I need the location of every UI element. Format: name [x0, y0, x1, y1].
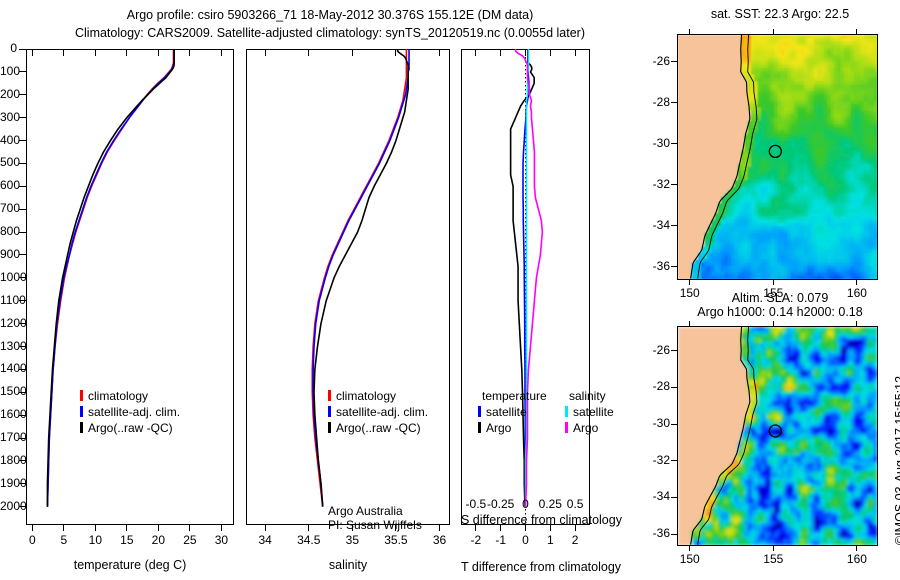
depth-tick-mark — [19, 209, 26, 210]
diff-s-tick-mark — [475, 50, 476, 56]
temp-xtick-5: 5 — [48, 533, 80, 547]
temp-xtick-0: 0 — [16, 533, 48, 547]
temp-xtick-mark — [221, 525, 222, 531]
temp-xtick-mark-top — [32, 50, 33, 56]
attribution-line1: Argo Australia — [328, 504, 403, 518]
temp-xtick-15: 15 — [111, 533, 143, 547]
sal-xtick-mark — [265, 525, 266, 531]
temperature-profile-plot — [26, 49, 234, 525]
depth-tick-1300: 1300 — [0, 339, 17, 353]
depth-tick-mark — [19, 186, 26, 187]
sal-xtick-35.5: 35.5 — [376, 533, 416, 547]
depth-tick-1600: 1600 — [0, 407, 17, 421]
diff-s-tick-mark — [550, 50, 551, 56]
depth-tick-1800: 1800 — [0, 453, 17, 467]
sst-lon-tick-155: 155 — [755, 286, 791, 300]
sla-lon-tick-mark — [856, 545, 857, 551]
depth-tick-100: 100 — [0, 64, 17, 78]
diff-legend-header-temperature: temperature — [482, 389, 547, 403]
sla-lon-tick-mark-top — [689, 321, 690, 327]
sla-lat-tick-mark — [671, 497, 678, 498]
attribution-line2: PI: Susan Wijffels — [328, 518, 422, 532]
diff-legend-label-s-1: Argo — [573, 421, 598, 435]
depth-tick-1200: 1200 — [0, 316, 17, 330]
legend-swatch-0 — [80, 390, 83, 401]
depth-tick-1000: 1000 — [0, 270, 17, 284]
temperature-xaxis-label: temperature (deg C) — [26, 558, 234, 572]
sal-xtick-mark-top — [308, 50, 309, 56]
legend-swatch-1 — [80, 406, 83, 417]
diff-t-tick-mark — [475, 525, 476, 531]
legend-label-2: Argo(..raw -QC) — [88, 421, 173, 435]
sla-lat-tick-mark — [671, 534, 678, 535]
depth-tick-mark — [19, 254, 26, 255]
diff-t-tick-mark — [500, 525, 501, 531]
sst-lat-tick--26: -26 — [636, 54, 670, 68]
depth-tick-1700: 1700 — [0, 430, 17, 444]
depth-tick-mark — [19, 49, 26, 50]
temp-xtick-mark-top — [126, 50, 127, 56]
sla-lon-tick-150: 150 — [672, 552, 708, 566]
sla-lat-tick-mark — [671, 460, 678, 461]
sla-lon-tick-mark-top — [773, 321, 774, 327]
salinity-xaxis-label: salinity — [246, 558, 450, 572]
depth-tick-mark — [19, 117, 26, 118]
sal-legend-swatch-1 — [328, 406, 331, 417]
legend-label-1: satellite-adj. clim. — [88, 405, 180, 419]
sal-xtick-mark — [352, 525, 353, 531]
diff-s-tick-mark — [575, 50, 576, 56]
sal-xtick-mark — [308, 525, 309, 531]
depth-tick-mark — [19, 232, 26, 233]
sal-xtick-mark-top — [395, 50, 396, 56]
temp-xtick-mark-top — [63, 50, 64, 56]
temp-xtick-mark-top — [95, 50, 96, 56]
sal-xtick-mark-top — [352, 50, 353, 56]
temp-xtick-20: 20 — [142, 533, 174, 547]
depth-tick-500: 500 — [0, 155, 17, 169]
temp-xtick-mark — [158, 525, 159, 531]
diff-legend-swatch-s-0 — [565, 406, 568, 417]
depth-tick-400: 400 — [0, 133, 17, 147]
temp-xtick-mark — [126, 525, 127, 531]
temp-xtick-mark — [95, 525, 96, 531]
diff-legend-swatch-s-1 — [565, 422, 568, 433]
sst-lat-tick-mark — [671, 184, 678, 185]
sst-lat-tick--32: -32 — [636, 177, 670, 191]
temp-xtick-mark-top — [189, 50, 190, 56]
sal-xtick-35: 35 — [332, 533, 372, 547]
page-title-line1: Argo profile: csiro 5903266_71 18-May-20… — [0, 8, 660, 22]
diff-s-tick-0.5: 0.5 — [553, 497, 597, 511]
sal-xtick-mark-top — [439, 50, 440, 56]
temp-xtick-mark-top — [221, 50, 222, 56]
temp-xtick-mark — [32, 525, 33, 531]
temp-xtick-25: 25 — [174, 533, 206, 547]
depth-tick-300: 300 — [0, 110, 17, 124]
diff-s-tick-mark — [500, 50, 501, 56]
sst-map-title: sat. SST: 22.3 Argo: 22.5 — [660, 7, 900, 21]
depth-tick-1400: 1400 — [0, 361, 17, 375]
sst-lat-tick--34: -34 — [636, 218, 670, 232]
sal-xtick-mark — [439, 525, 440, 531]
sal-xtick-34.5: 34.5 — [289, 533, 329, 547]
difference-t-label: T difference from climatology — [461, 560, 590, 574]
sal-legend-swatch-0 — [328, 390, 331, 401]
sla-lat-tick--28: -28 — [636, 379, 670, 393]
diff-t-tick-2: 2 — [559, 533, 591, 547]
depth-tick-mark — [19, 71, 26, 72]
depth-tick-200: 200 — [0, 87, 17, 101]
sst-lon-tick-160: 160 — [839, 286, 875, 300]
diff-legend-label-t-1: Argo — [486, 421, 511, 435]
sal-xtick-34: 34 — [245, 533, 285, 547]
diff-t-tick-mark — [550, 525, 551, 531]
sst-lat-tick-mark — [671, 61, 678, 62]
sst-lat-tick--36: -36 — [636, 259, 670, 273]
depth-tick-2000: 2000 — [0, 499, 17, 513]
diff-t-tick-mark — [525, 525, 526, 531]
sla-lat-tick--30: -30 — [636, 416, 670, 430]
sst-lon-tick-mark — [773, 279, 774, 285]
diff-legend-label-s-0: satellite — [573, 405, 614, 419]
depth-tick-mark — [19, 163, 26, 164]
diff-s-tick-mark — [525, 50, 526, 56]
page-title-line2: Climatology: CARS2009. Satellite-adjuste… — [0, 26, 660, 40]
sla-lat-tick-mark — [671, 350, 678, 351]
sla-lat-tick-mark — [671, 387, 678, 388]
temp-xtick-mark-top — [158, 50, 159, 56]
sla-lon-tick-160: 160 — [839, 552, 875, 566]
sal-legend-label-2: Argo(..raw -QC) — [336, 421, 421, 435]
sst-lat-tick-mark — [671, 102, 678, 103]
sla-lon-tick-mark-top — [856, 321, 857, 327]
diff-legend-label-t-0: satellite — [486, 405, 527, 419]
sst-lat-tick-mark — [671, 143, 678, 144]
sst-map-field — [678, 35, 877, 279]
sst-lat-tick-mark — [671, 225, 678, 226]
depth-tick-800: 800 — [0, 224, 17, 238]
sst-lon-tick-mark-top — [856, 29, 857, 35]
diff-legend-header-salinity: salinity — [569, 389, 606, 403]
sla-lon-tick-155: 155 — [755, 552, 791, 566]
depth-tick-mark — [19, 94, 26, 95]
sst-lat-tick-mark — [671, 266, 678, 267]
depth-tick-0: 0 — [0, 41, 17, 55]
depth-tick-1500: 1500 — [0, 384, 17, 398]
depth-tick-mark — [19, 140, 26, 141]
sla-lat-tick-mark — [671, 424, 678, 425]
sst-lon-tick-150: 150 — [672, 286, 708, 300]
depth-tick-600: 600 — [0, 178, 17, 192]
salinity-profile-plot — [246, 49, 450, 525]
depth-tick-700: 700 — [0, 201, 17, 215]
sst-lon-tick-mark — [689, 279, 690, 285]
sal-legend-label-0: climatology — [336, 389, 396, 403]
temp-xtick-30: 30 — [205, 533, 237, 547]
legend-label-0: climatology — [88, 389, 148, 403]
sla-lat-tick--26: -26 — [636, 343, 670, 357]
sal-xtick-mark-top — [265, 50, 266, 56]
depth-tick-900: 900 — [0, 247, 17, 261]
sal-legend-label-1: satellite-adj. clim. — [336, 405, 428, 419]
legend-swatch-2 — [80, 422, 83, 433]
depth-tick-1900: 1900 — [0, 476, 17, 490]
sla-lat-tick--34: -34 — [636, 489, 670, 503]
sla-lat-tick--32: -32 — [636, 453, 670, 467]
sal-legend-swatch-2 — [328, 422, 331, 433]
sst-lat-tick--28: -28 — [636, 95, 670, 109]
sst-lon-tick-mark — [856, 279, 857, 285]
sal-xtick-mark — [395, 525, 396, 531]
diff-t-tick-mark — [575, 525, 576, 531]
diff-legend-swatch-t-0 — [478, 406, 481, 417]
temp-xtick-10: 10 — [79, 533, 111, 547]
sla-lon-tick-mark — [689, 545, 690, 551]
sst-lon-tick-mark-top — [689, 29, 690, 35]
sla-map-title-line2: Argo h1000: 0.14 h2000: 0.18 — [660, 305, 900, 319]
sla-lon-tick-mark — [773, 545, 774, 551]
sst-lon-tick-mark-top — [773, 29, 774, 35]
depth-tick-1100: 1100 — [0, 293, 17, 307]
sla-map-field — [678, 327, 877, 545]
temp-xtick-mark — [189, 525, 190, 531]
sst-lat-tick--30: -30 — [636, 136, 670, 150]
difference-profile-plot — [461, 49, 590, 525]
temp-xtick-mark — [63, 525, 64, 531]
diff-legend-swatch-t-1 — [478, 422, 481, 433]
imos-credit: ©IMOS 03-Aug-2017 15:55:12 — [893, 376, 900, 545]
sal-xtick-36: 36 — [420, 533, 460, 547]
sla-lat-tick--36: -36 — [636, 526, 670, 540]
